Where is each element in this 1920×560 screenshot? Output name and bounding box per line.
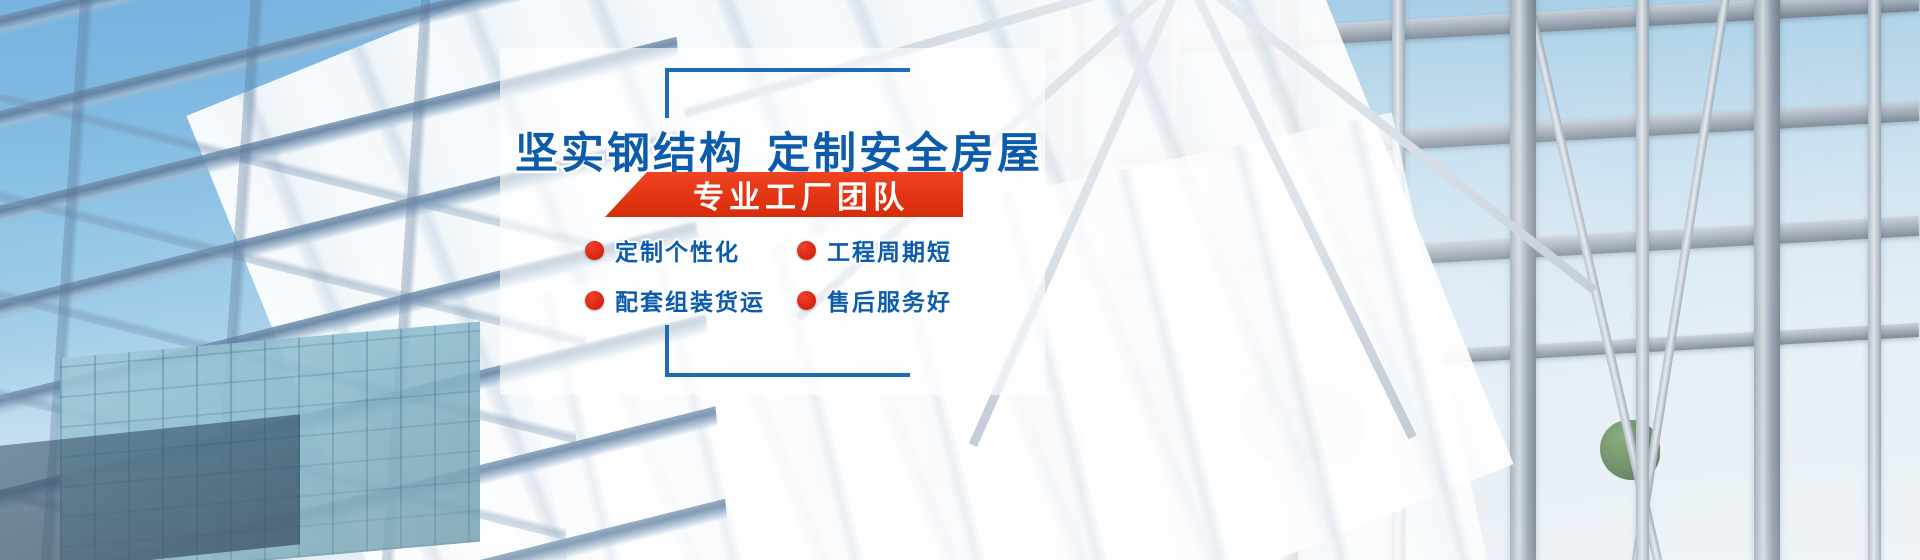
hero-banner: 坚实钢结构定制安全房屋 专业工厂团队 定制个性化 工程周期短 配套组装货运 售后… bbox=[0, 0, 1920, 560]
bullet-dot-icon bbox=[797, 241, 816, 260]
bullet-dot-icon bbox=[797, 291, 816, 310]
feature-item: 配套组装货运 bbox=[585, 278, 797, 322]
ribbon-badge: 专业工厂团队 bbox=[605, 172, 963, 217]
feature-item: 工程周期短 bbox=[797, 228, 1005, 272]
bracket-bottom-left-icon bbox=[665, 325, 910, 377]
bullet-dot-icon bbox=[585, 291, 604, 310]
ribbon-label: 专业工厂团队 bbox=[605, 172, 963, 217]
feature-label: 工程周期短 bbox=[827, 233, 952, 267]
feature-label: 配套组装货运 bbox=[615, 283, 765, 317]
bracket-top-left-icon bbox=[665, 68, 910, 118]
feature-item: 售后服务好 bbox=[797, 278, 1005, 322]
bullet-dot-icon bbox=[585, 241, 604, 260]
headline-part-2: 定制安全房屋 bbox=[767, 130, 1043, 178]
headline-part-1: 坚实钢结构 bbox=[515, 130, 745, 178]
feature-list: 定制个性化 工程周期短 配套组装货运 售后服务好 bbox=[585, 228, 1005, 322]
feature-label: 售后服务好 bbox=[827, 283, 952, 317]
feature-label: 定制个性化 bbox=[615, 233, 740, 267]
feature-item: 定制个性化 bbox=[585, 228, 797, 272]
